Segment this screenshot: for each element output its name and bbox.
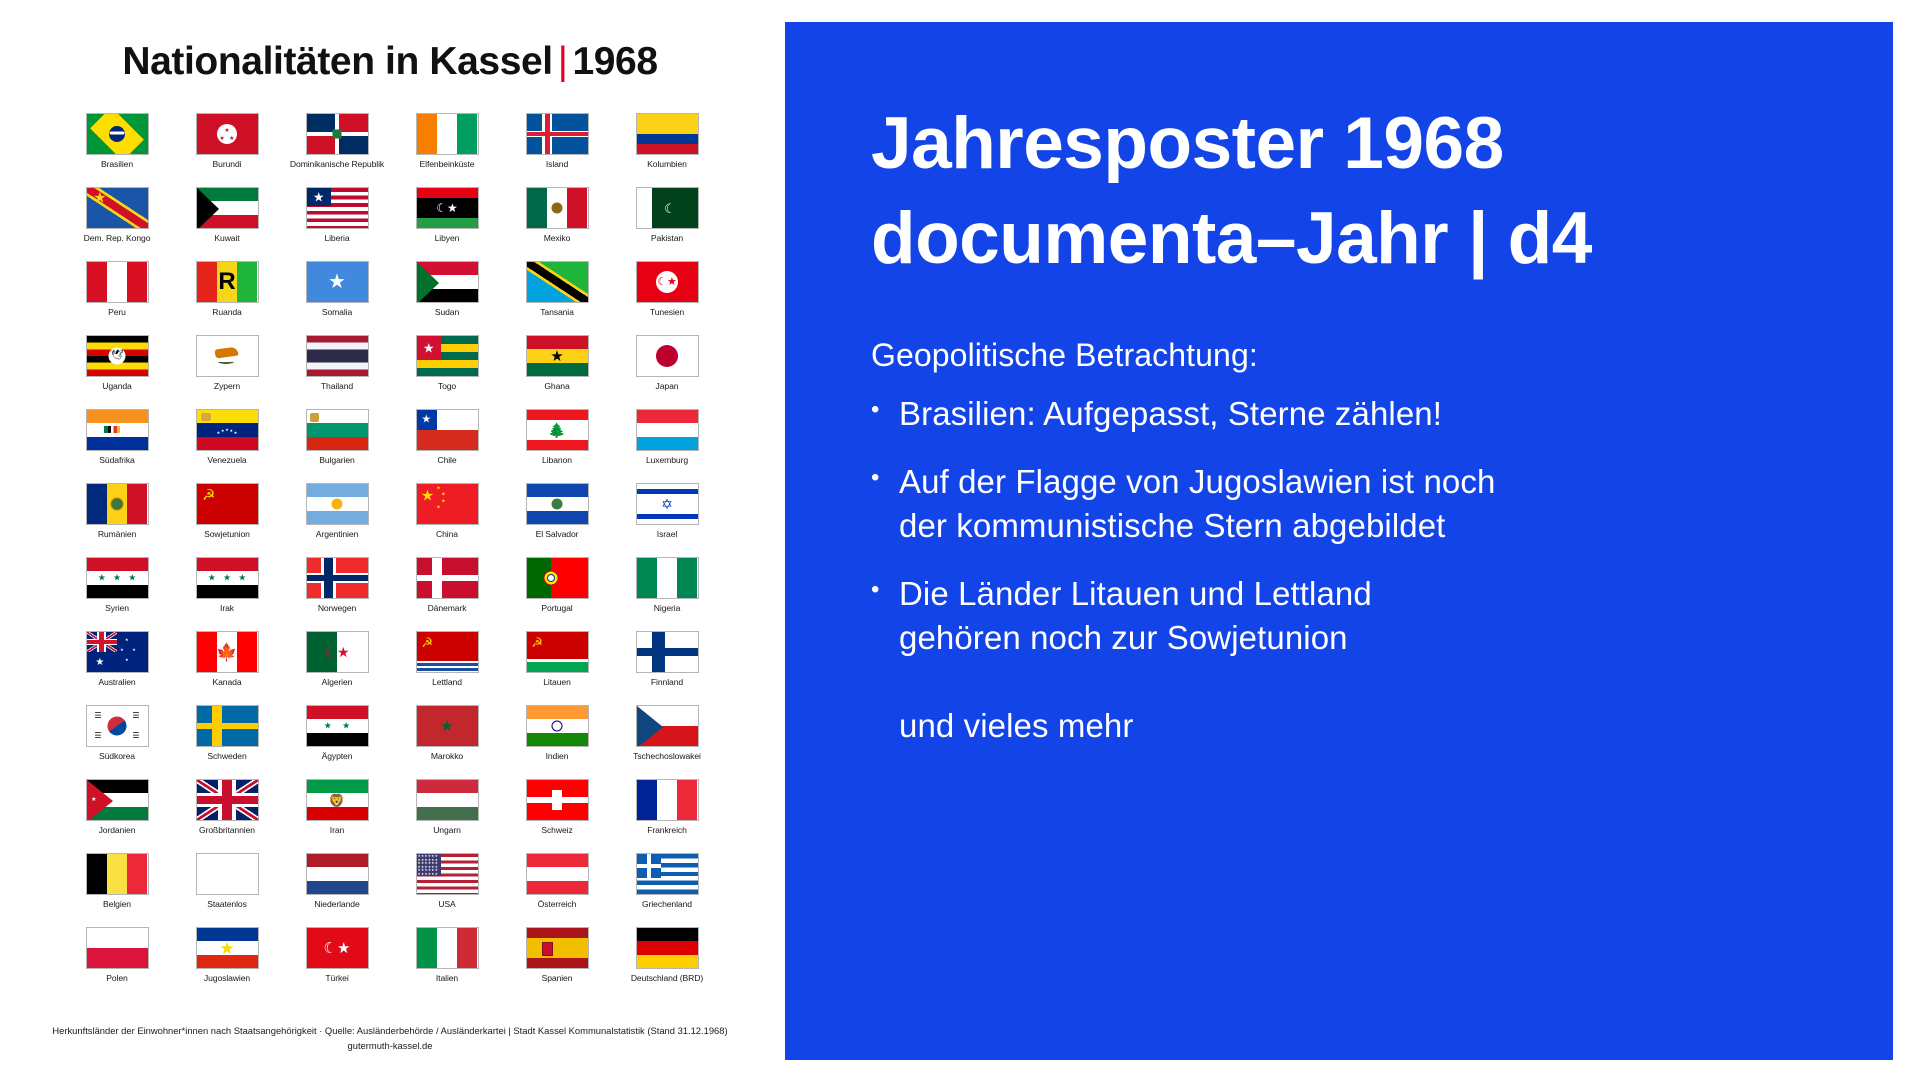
- flag-cell: ★★★Burundi: [172, 113, 282, 187]
- flag-label: Jugoslawien: [204, 974, 250, 983]
- flag-litauen: ☭: [526, 631, 589, 673]
- flag-label: Chile: [437, 456, 456, 465]
- flag-label: Rumänien: [98, 530, 136, 539]
- flag-label: Kolumbien: [647, 160, 687, 169]
- flag-label: Deutschland (BRD): [631, 974, 703, 983]
- flag-cell: ☾★Türkei: [282, 927, 392, 1001]
- footnote-source: Herkunftsländer der Einwohner*innen nach…: [32, 1023, 748, 1039]
- flag-label: Uganda: [102, 382, 132, 391]
- flag-label: Schweiz: [541, 826, 572, 835]
- flag-bulgarien: [306, 409, 369, 451]
- flag-uganda: 🕊: [86, 335, 149, 377]
- flag-frankreich: [636, 779, 699, 821]
- flag-cell: Schweiz: [502, 779, 612, 853]
- flag-cell: Frankreich: [612, 779, 722, 853]
- flag-label: Bulgarien: [319, 456, 354, 465]
- flag-cell: Kuwait: [172, 187, 282, 261]
- flag-label: Island: [546, 160, 568, 169]
- flag-cell: Japan: [612, 335, 722, 409]
- page-title: Nationalitäten in Kassel|1968: [0, 40, 780, 84]
- flag-label: Schweden: [207, 752, 246, 761]
- flag-cell: Zypern: [172, 335, 282, 409]
- flag-label: Tansania: [540, 308, 574, 317]
- flag-label: Venezuela: [207, 456, 246, 465]
- flag-nigeria: [636, 557, 699, 599]
- flag-suedafrika: [86, 409, 149, 451]
- flag-cell: ☭Sowjetunion: [172, 483, 282, 557]
- flag-cell: Indien: [502, 705, 612, 779]
- flag-israel: ✡: [636, 483, 699, 525]
- flag-cell: Thailand: [282, 335, 392, 409]
- page-title-year: 1968: [572, 40, 657, 83]
- flag-burundi: ★★★: [196, 113, 259, 155]
- flag-cell: ☭Litauen: [502, 631, 612, 705]
- flag-label: Indien: [546, 752, 569, 761]
- flag-usa: ★★★★★★ ★★★★★★ ★★★★★★ ★★★★★★ ★★★★★★ ★★★★★…: [416, 853, 479, 895]
- flag-label: Iran: [330, 826, 344, 835]
- flag-label: Algerien: [322, 678, 353, 687]
- flag-label: Frankreich: [647, 826, 687, 835]
- flag-label: Türkei: [325, 974, 348, 983]
- flag-aegypten: ★★: [306, 705, 369, 747]
- bullet-marker-icon: •: [871, 392, 899, 428]
- flag-jugoslawien: ★: [196, 927, 259, 969]
- flag-grossbritannien: [196, 779, 259, 821]
- flag-cell: Finnland: [612, 631, 722, 705]
- flag-label: Nigeria: [654, 604, 681, 613]
- flag-cell: Staatenlos: [172, 853, 282, 927]
- flag-cell: Großbritannien: [172, 779, 282, 853]
- flag-cell: Sudan: [392, 261, 502, 335]
- flag-cell: ★★★Syrien: [62, 557, 172, 631]
- flag-luxemburg: [636, 409, 699, 451]
- bullet-list: •Brasilien: Aufgepasst, Sterne zählen!•A…: [871, 392, 1829, 661]
- flag-liberia: ★: [306, 187, 369, 229]
- flag-cell: Kolumbien: [612, 113, 722, 187]
- flag-iran: 🦁: [306, 779, 369, 821]
- flag-lettland: ☭: [416, 631, 479, 673]
- flag-label: Mexiko: [544, 234, 571, 243]
- footnote-website: gutermuth-kassel.de: [32, 1038, 748, 1054]
- panel-closing-text: und vieles mehr: [899, 707, 1829, 745]
- flag-cell: 🕊Uganda: [62, 335, 172, 409]
- flag-label: Dem. Rep. Kongo: [84, 234, 151, 243]
- flag-kolumbien: [636, 113, 699, 155]
- flag-elfenbeinkueste: [416, 113, 479, 155]
- flag-cell: Griechenland: [612, 853, 722, 927]
- flag-label: Israel: [657, 530, 677, 539]
- flag-label: Südafrika: [99, 456, 134, 465]
- flag-staatenlos: [196, 853, 259, 895]
- flag-cell: ★Ghana: [502, 335, 612, 409]
- bullet-marker-icon: •: [871, 572, 899, 608]
- flag-label: Staatenlos: [207, 900, 247, 909]
- bullet-text: Die Länder Litauen und Lettland gehören …: [899, 572, 1372, 660]
- flag-schweden: [196, 705, 259, 747]
- page-title-main: Nationalitäten in Kassel: [122, 40, 552, 83]
- flag-cell: Bulgarien: [282, 409, 392, 483]
- flag-el-salvador: [526, 483, 589, 525]
- flag-polen: [86, 927, 149, 969]
- flag-cell: Ungarn: [392, 779, 502, 853]
- flag-label: Brasilien: [101, 160, 133, 169]
- flag-cell: ★Chile: [392, 409, 502, 483]
- flag-venezuela: ★★★★★: [196, 409, 259, 451]
- bullet-item: •Brasilien: Aufgepasst, Sterne zählen!: [871, 392, 1829, 436]
- flag-dem-rep-kongo: ★: [86, 187, 149, 229]
- flag-label: Griechenland: [642, 900, 692, 909]
- flag-china: ★★★★★: [416, 483, 479, 525]
- flag-cell: ☰ ☰ ☰ ☰Südkorea: [62, 705, 172, 779]
- flag-deutschland-brd: [636, 927, 699, 969]
- flag-griechenland: [636, 853, 699, 895]
- bullet-item: •Die Länder Litauen und Lettland gehören…: [871, 572, 1829, 660]
- flag-daenemark: [416, 557, 479, 599]
- flag-label: Niederlande: [314, 900, 359, 909]
- flag-label: Dänemark: [428, 604, 467, 613]
- flag-cell: Norwegen: [282, 557, 392, 631]
- flag-cell: ★★★★★China: [392, 483, 502, 557]
- flag-cell: Rumänien: [62, 483, 172, 557]
- flag-label: Lettland: [432, 678, 462, 687]
- flag-cell: ☾Pakistan: [612, 187, 722, 261]
- flag-cell: ★Liberia: [282, 187, 392, 261]
- flag-australien: ★★★★★: [86, 631, 149, 673]
- flag-label: USA: [438, 900, 455, 909]
- flag-chile: ★: [416, 409, 479, 451]
- flag-belgien: [86, 853, 149, 895]
- flag-label: Luxemburg: [646, 456, 688, 465]
- flag-label: Somalia: [322, 308, 352, 317]
- flag-tunesien: ☾★: [636, 261, 699, 303]
- flag-label: Japan: [656, 382, 679, 391]
- flag-cell: Argentinien: [282, 483, 392, 557]
- flag-label: Ungarn: [433, 826, 461, 835]
- flag-norwegen: [306, 557, 369, 599]
- flag-label: Italien: [436, 974, 458, 983]
- flag-label: Ägypten: [322, 752, 353, 761]
- flag-cell: ★★★★★★ ★★★★★★ ★★★★★★ ★★★★★★ ★★★★★★ ★★★★★…: [392, 853, 502, 927]
- flag-label: Dominikanische Republik: [290, 160, 384, 169]
- flag-cell: Island: [502, 113, 612, 187]
- flag-label: Argentinien: [316, 530, 358, 539]
- flag-cell: 🌲Libanon: [502, 409, 612, 483]
- flag-syrien: ★★★: [86, 557, 149, 599]
- flag-cell: ✡Israel: [612, 483, 722, 557]
- flag-zypern: [196, 335, 259, 377]
- flag-label: Zypern: [214, 382, 240, 391]
- flag-cell: RRuanda: [172, 261, 282, 335]
- flag-label: El Salvador: [536, 530, 579, 539]
- flag-label: Portugal: [541, 604, 572, 613]
- flag-label: Österreich: [538, 900, 577, 909]
- panel-headline-line1: Jahresposter 1968: [871, 94, 1829, 193]
- flag-label: Sudan: [435, 308, 459, 317]
- flag-finnland: [636, 631, 699, 673]
- flag-suedkorea: ☰ ☰ ☰ ☰: [86, 705, 149, 747]
- flag-cell: Luxemburg: [612, 409, 722, 483]
- flag-cell: ★Dem. Rep. Kongo: [62, 187, 172, 261]
- flag-label: China: [436, 530, 458, 539]
- flag-label: Finnland: [651, 678, 683, 687]
- flag-label: Pakistan: [651, 234, 683, 243]
- flag-tansania: [526, 261, 589, 303]
- flag-italien: [416, 927, 479, 969]
- flag-label: Ruanda: [212, 308, 242, 317]
- flag-portugal: [526, 557, 589, 599]
- flag-cell: Peru: [62, 261, 172, 335]
- flag-label: Kuwait: [214, 234, 239, 243]
- info-panel: Jahresposter 1968 documenta–Jahr | d4 Ge…: [785, 22, 1893, 1060]
- flag-cell: ☾★Libyen: [392, 187, 502, 261]
- panel-headline-line2: documenta–Jahr | d4: [871, 189, 1829, 288]
- flag-cell: ★★★Irak: [172, 557, 282, 631]
- title-separator: |: [553, 40, 573, 83]
- flag-label: Marokko: [431, 752, 463, 761]
- flag-cell: ★Somalia: [282, 261, 392, 335]
- flag-label: Liberia: [324, 234, 349, 243]
- flag-cell: Dominikanische Republik: [282, 113, 392, 187]
- flag-niederlande: [306, 853, 369, 895]
- flag-thailand: [306, 335, 369, 377]
- bullet-item: •Auf der Flagge von Jugoslawien ist noch…: [871, 460, 1829, 548]
- flag-poster-panel: Nationalitäten in Kassel|1968 Brasilien …: [0, 0, 780, 1080]
- panel-subtitle: Geopolitische Betrachtung:: [871, 337, 1829, 374]
- flag-spanien: [526, 927, 589, 969]
- flag-cell: Schweden: [172, 705, 282, 779]
- flag-label: Jordanien: [99, 826, 136, 835]
- flag-ungarn: [416, 779, 479, 821]
- flag-rumaenien: [86, 483, 149, 525]
- flag-label: Irak: [220, 604, 234, 613]
- flag-libyen: ☾★: [416, 187, 479, 229]
- flag-label: Togo: [438, 382, 456, 391]
- flag-label: Australien: [98, 678, 135, 687]
- flag-sowjetunion: ☭: [196, 483, 259, 525]
- flag-schweiz: [526, 779, 589, 821]
- flag-libanon: 🌲: [526, 409, 589, 451]
- flag-cell: ★Marokko: [392, 705, 502, 779]
- flag-cell: Polen: [62, 927, 172, 1001]
- flag-label: Tschechoslowakei: [633, 752, 701, 761]
- flag-irak: ★★★: [196, 557, 259, 599]
- bullet-text: Brasilien: Aufgepasst, Sterne zählen!: [899, 392, 1442, 436]
- flag-label: Elfenbeinküste: [420, 160, 475, 169]
- flag-pakistan: ☾: [636, 187, 699, 229]
- flag-label: Litauen: [543, 678, 571, 687]
- flag-label: Sowjetunion: [204, 530, 250, 539]
- flag-peru: [86, 261, 149, 303]
- flag-cell: Niederlande: [282, 853, 392, 927]
- flag-ruanda: R: [196, 261, 259, 303]
- flag-cell: ★★★★★ Venezuela: [172, 409, 282, 483]
- flag-algerien: ☾★: [306, 631, 369, 673]
- flag-cell: ☭Lettland: [392, 631, 502, 705]
- flag-cell: Belgien: [62, 853, 172, 927]
- flag-island: [526, 113, 589, 155]
- flag-label: Kanada: [212, 678, 241, 687]
- flag-cell: Tschechoslowakei: [612, 705, 722, 779]
- flag-dominikanische-republik: [306, 113, 369, 155]
- flag-cell: Elfenbeinküste: [392, 113, 502, 187]
- flag-cell: ★★Ägypten: [282, 705, 392, 779]
- flag-sudan: [416, 261, 479, 303]
- footnote: Herkunftsländer der Einwohner*innen nach…: [32, 1023, 748, 1054]
- flag-cell: ★Jordanien: [62, 779, 172, 853]
- flag-label: Thailand: [321, 382, 353, 391]
- flag-togo: ★: [416, 335, 479, 377]
- flag-label: Norwegen: [318, 604, 356, 613]
- flag-indien: [526, 705, 589, 747]
- flag-argentinien: [306, 483, 369, 525]
- flag-grid: Brasilien ★★★Burundi Dominikanische Repu…: [62, 113, 722, 1001]
- flag-label: Tunesien: [650, 308, 684, 317]
- flag-label: Südkorea: [99, 752, 135, 761]
- flag-japan: [636, 335, 699, 377]
- flag-cell: Brasilien: [62, 113, 172, 187]
- flag-label: Belgien: [103, 900, 131, 909]
- flag-label: Syrien: [105, 604, 129, 613]
- flag-ghana: ★: [526, 335, 589, 377]
- flag-cell: Nigeria: [612, 557, 722, 631]
- flag-cell: Tansania: [502, 261, 612, 335]
- flag-jordanien: ★: [86, 779, 149, 821]
- flag-cell: ★★★★★Australien: [62, 631, 172, 705]
- flag-brasilien: [86, 113, 149, 155]
- flag-label: Großbritannien: [199, 826, 255, 835]
- flag-label: Peru: [108, 308, 126, 317]
- flag-cell: ★Jugoslawien: [172, 927, 282, 1001]
- flag-label: Libanon: [542, 456, 572, 465]
- flag-label: Ghana: [544, 382, 569, 391]
- flag-cell: ★Togo: [392, 335, 502, 409]
- flag-kanada: 🍁: [196, 631, 259, 673]
- flag-cell: Dänemark: [392, 557, 502, 631]
- flag-cell: El Salvador: [502, 483, 612, 557]
- flag-label: Spanien: [542, 974, 573, 983]
- poster-page: Nationalitäten in Kassel|1968 Brasilien …: [0, 0, 1920, 1080]
- flag-oesterreich: [526, 853, 589, 895]
- flag-cell: 🍁Kanada: [172, 631, 282, 705]
- flag-tuerkei: ☾★: [306, 927, 369, 969]
- flag-cell: Italien: [392, 927, 502, 1001]
- flag-label: Polen: [106, 974, 127, 983]
- flag-tschechoslowakei: [636, 705, 699, 747]
- bullet-marker-icon: •: [871, 460, 899, 496]
- flag-cell: Deutschland (BRD): [612, 927, 722, 1001]
- flag-cell: ☾★Tunesien: [612, 261, 722, 335]
- flag-kuwait: [196, 187, 259, 229]
- bullet-text: Auf der Flagge von Jugoslawien ist noch …: [899, 460, 1495, 548]
- flag-mexiko: [526, 187, 589, 229]
- flag-label: Burundi: [213, 160, 242, 169]
- flag-cell: Spanien: [502, 927, 612, 1001]
- flag-cell: ☾★Algerien: [282, 631, 392, 705]
- flag-cell: Österreich: [502, 853, 612, 927]
- flag-cell: Südafrika: [62, 409, 172, 483]
- flag-cell: Mexiko: [502, 187, 612, 261]
- flag-somalia: ★: [306, 261, 369, 303]
- flag-marokko: ★: [416, 705, 479, 747]
- flag-cell: 🦁Iran: [282, 779, 392, 853]
- flag-cell: Portugal: [502, 557, 612, 631]
- flag-label: Libyen: [435, 234, 460, 243]
